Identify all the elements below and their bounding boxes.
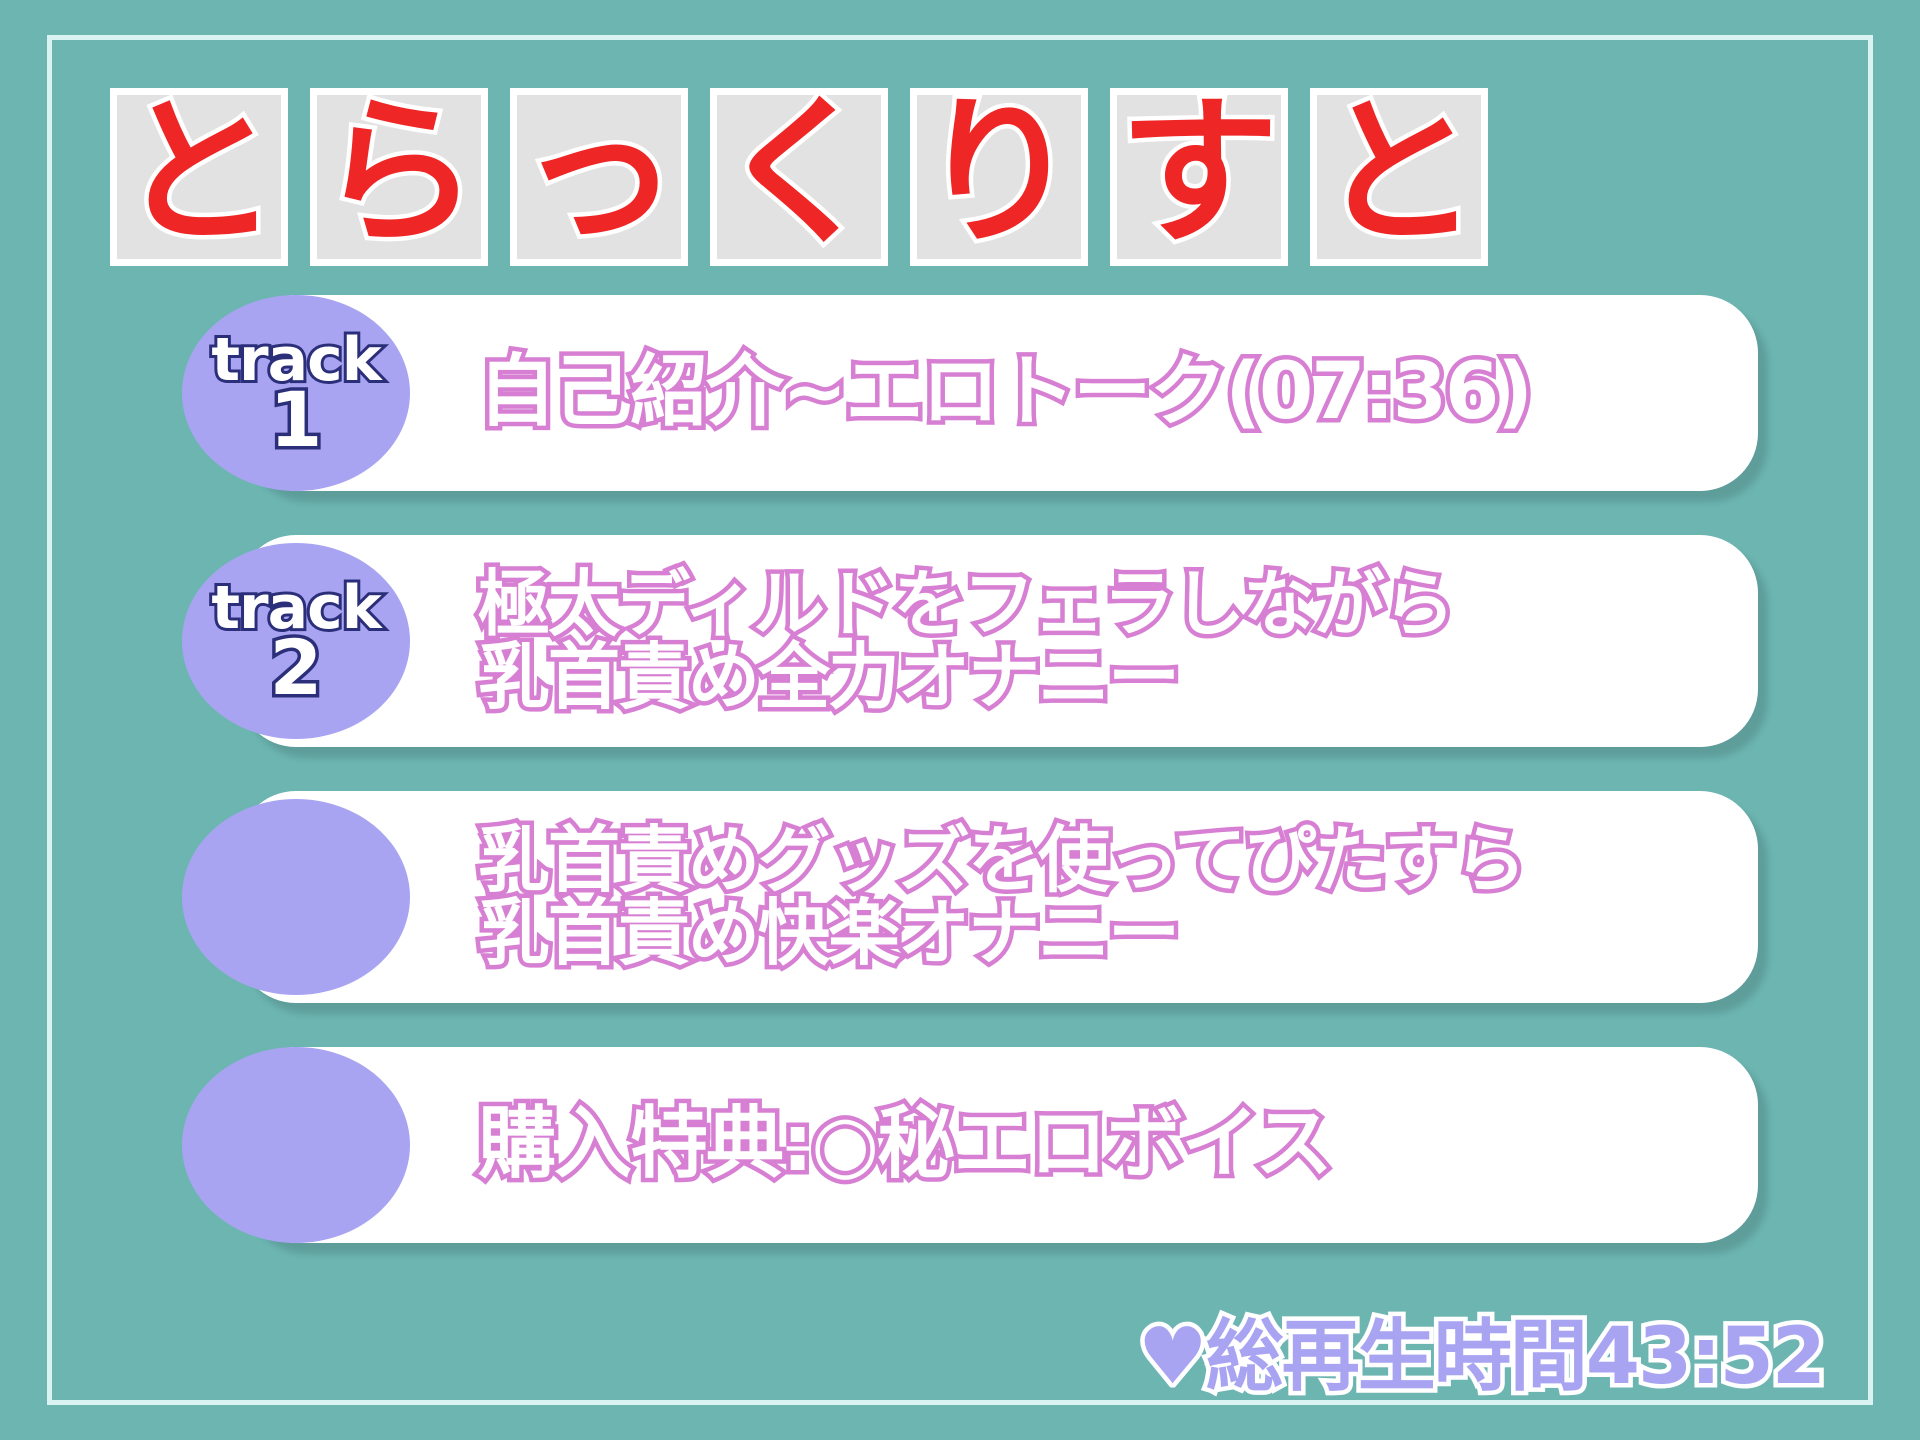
track-title-2: 極太ディルドをフェラしながら 乳首責め全力オナニー	[478, 568, 1453, 715]
track-row: track 1 自己紹介~エロトーク(07:36)	[238, 295, 1758, 491]
track-row: track 2 極太ディルドをフェラしながら 乳首責め全力オナニー	[238, 535, 1758, 747]
track-row: 購入特典:○秘エロボイス	[238, 1047, 1758, 1243]
track-title-4: 購入特典:○秘エロボイス	[478, 1105, 1331, 1185]
track-badge-number: 1	[270, 385, 323, 455]
track-badge-2: track 2	[182, 543, 410, 739]
title-character: ら	[319, 93, 479, 253]
title-character: り	[919, 93, 1079, 253]
title-character: っ	[519, 93, 679, 253]
track-badge-number: 2	[270, 633, 323, 703]
title-character: と	[119, 93, 279, 253]
track-badge-4	[182, 1047, 410, 1243]
track-badge-3	[182, 799, 410, 995]
title-tile: ら	[310, 88, 488, 266]
title-tile: す	[1110, 88, 1288, 266]
title-tile: と	[110, 88, 288, 266]
track-title-3: 乳首責めグッズを使ってぴたすら 乳首責め快楽オナニー	[478, 824, 1524, 971]
track-card-4[interactable]: 購入特典:○秘エロボイス	[238, 1047, 1758, 1243]
title-character: と	[1319, 93, 1479, 253]
footer: ♥総再生時間43:52	[1138, 1318, 1824, 1396]
page-title: と ら っ く り す と	[110, 88, 1488, 266]
title-character: す	[1119, 93, 1279, 253]
track-card-2[interactable]: track 2 極太ディルドをフェラしながら 乳首責め全力オナニー	[238, 535, 1758, 747]
track-badge-1: track 1	[182, 295, 410, 491]
total-playtime-label: ♥総再生時間43:52	[1138, 1318, 1824, 1396]
track-list: track 1 自己紹介~エロトーク(07:36) track 2 極太ディルド…	[238, 295, 1758, 1287]
title-tile: っ	[510, 88, 688, 266]
title-character: く	[719, 93, 879, 253]
title-tile: と	[1310, 88, 1488, 266]
track-card-3[interactable]: 乳首責めグッズを使ってぴたすら 乳首責め快楽オナニー	[238, 791, 1758, 1003]
track-title-1: 自己紹介~エロトーク(07:36)	[478, 353, 1531, 433]
title-tile: く	[710, 88, 888, 266]
track-card-1[interactable]: track 1 自己紹介~エロトーク(07:36)	[238, 295, 1758, 491]
title-tile: り	[910, 88, 1088, 266]
track-row: 乳首責めグッズを使ってぴたすら 乳首責め快楽オナニー	[238, 791, 1758, 1003]
